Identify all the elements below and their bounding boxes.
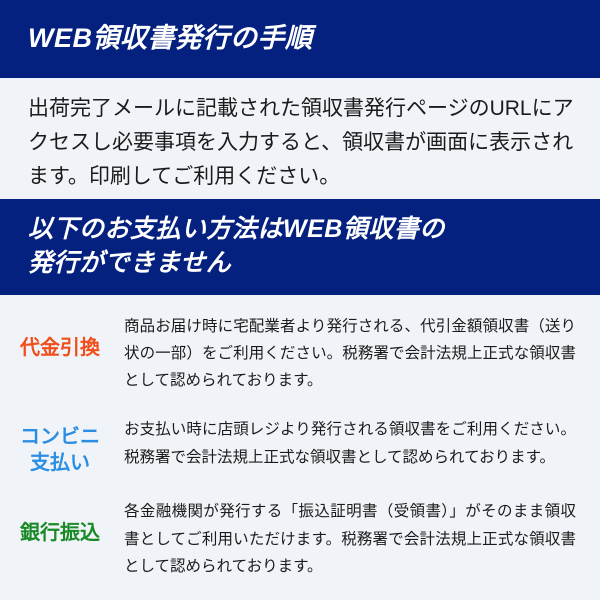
page-title: WEB領収書発行の手順 [28,22,313,56]
payment-method-description-convenience-store: お支払い時に店頭レジより発行される領収書をご利用ください。税務署で会計法規上正式… [120,416,582,470]
warning-banner-title: 以下のお支払い方法はWEB領収書の 発行ができません [28,213,445,281]
intro-paragraph: 出荷完了メールに記載された領収書発行ページのURLにアクセスし必要事項を入力する… [28,92,574,194]
main-banner: WEB領収書発行の手順 [0,0,600,78]
warning-banner: 以下のお支払い方法はWEB領収書の 発行ができません [0,199,600,295]
payment-method-label-convenience-store: コンビニ 支払い [0,416,120,476]
payment-method-description-bank-transfer: 各金融機関が発行する「振込証明書（受領書）」がそのまま領収書としてご利用いただけ… [120,498,582,579]
intro-section: 出荷完了メールに記載された領収書発行ページのURLにアクセスし必要事項を入力する… [0,78,600,199]
payment-method-row-convenience-store: コンビニ 支払い お支払い時に店頭レジより発行される領収書をご利用ください。税務… [0,416,600,476]
payment-method-label-bank-transfer: 銀行振込 [0,498,120,546]
payment-method-label-cod: 代金引換 [0,313,120,361]
payment-method-description-cod: 商品お届け時に宅配業者より発行される、代引金額領収書（送り状の一部）をご利用くだ… [120,313,582,394]
payment-method-row-bank-transfer: 銀行振込 各金融機関が発行する「振込証明書（受領書）」がそのまま領収書としてご利… [0,498,600,579]
receipt-guide-page: WEB領収書発行の手順 出荷完了メールに記載された領収書発行ページのURLにアク… [0,0,600,600]
payment-method-row-cod: 代金引換 商品お届け時に宅配業者より発行される、代引金額領収書（送り状の一部）を… [0,313,600,394]
payment-methods-list: 代金引換 商品お届け時に宅配業者より発行される、代引金額領収書（送り状の一部）を… [0,295,600,580]
